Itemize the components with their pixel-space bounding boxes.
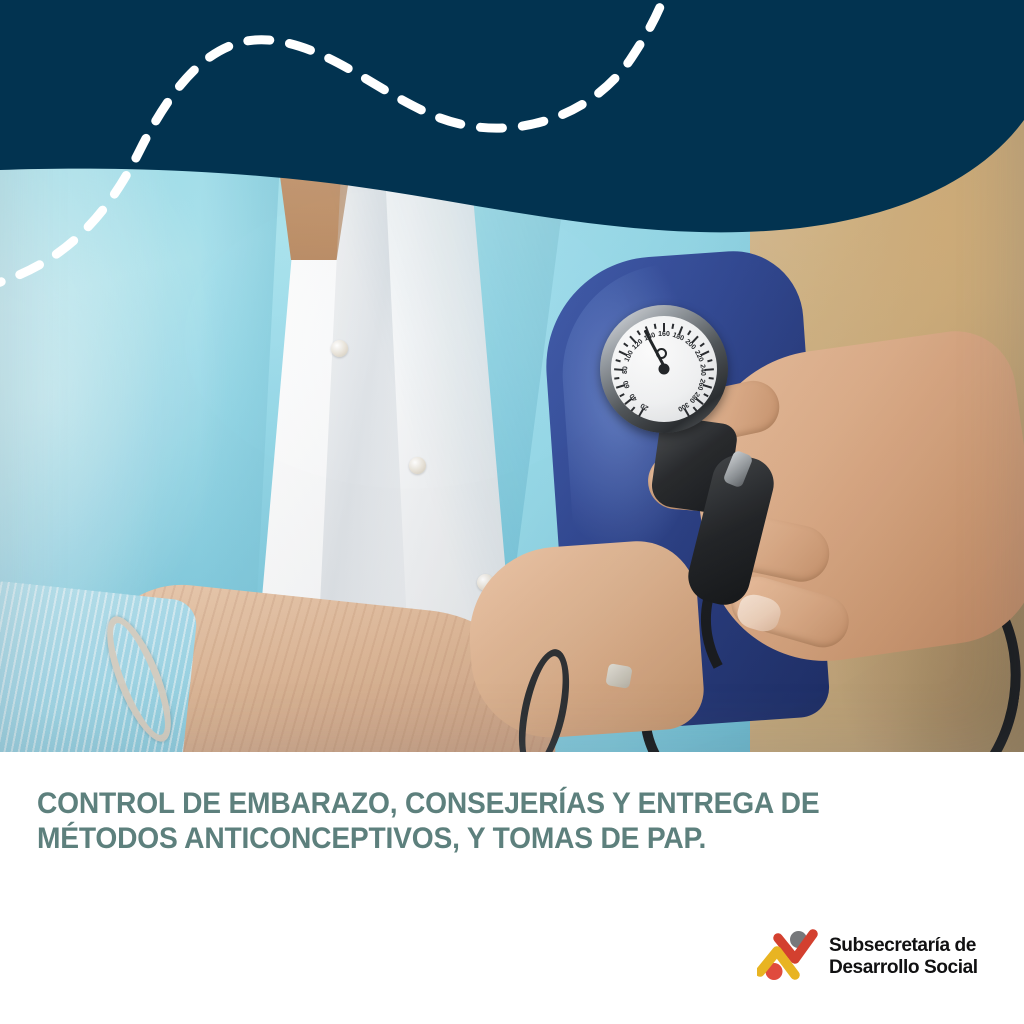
subsecretaria-desarrollo-social-logo: Subsecretaría de Desarrollo Social (757, 925, 1007, 987)
logo-wordmark: Subsecretaría de Desarrollo Social (829, 934, 978, 978)
poster-root: 2040608010012014016018020022024026028030… (0, 0, 1024, 1024)
page-title: CONTROL DE EMBARAZO, CONSEJERÍAS Y ENTRE… (37, 786, 897, 856)
two-figures-icon (757, 928, 819, 984)
navy-header-banner (0, 0, 1024, 300)
